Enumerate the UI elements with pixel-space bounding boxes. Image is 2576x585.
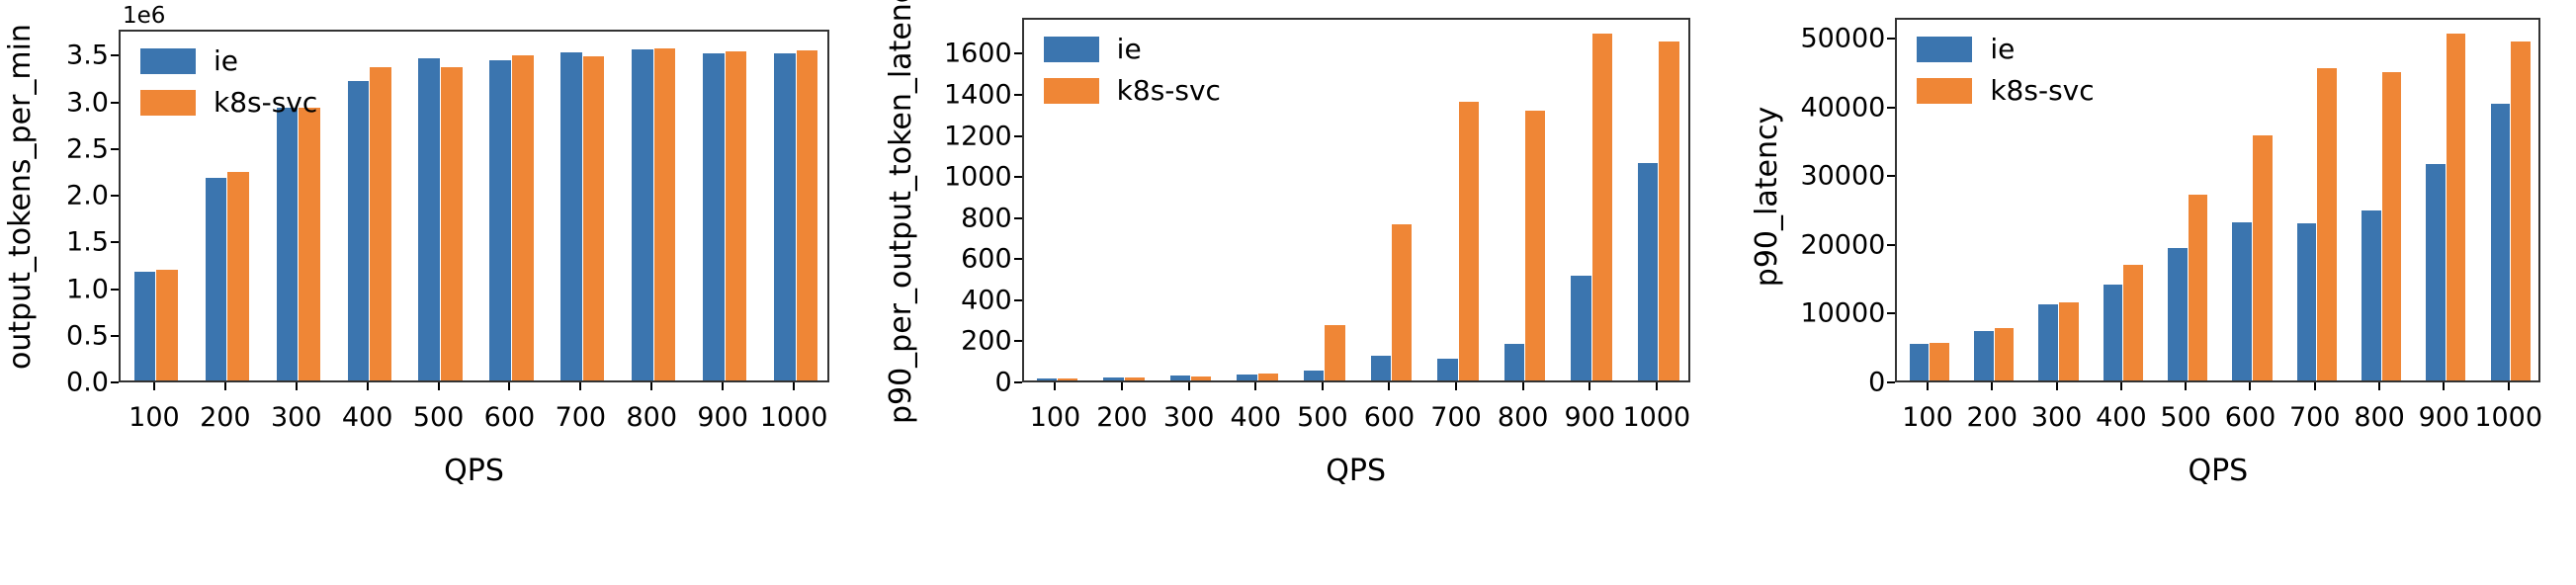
x-tick-mark: [793, 382, 795, 390]
y-tick-mark: [1014, 258, 1022, 260]
legend: iek8s-svc: [140, 47, 317, 117]
bar-k8s-svc: [583, 56, 605, 380]
bar-ie: [774, 53, 796, 380]
bar-group: [547, 32, 618, 380]
y-tick-label: 3.5: [66, 41, 109, 71]
y-axis-offset-text: 1e6: [123, 3, 165, 29]
x-axis-label: QPS: [444, 454, 504, 488]
bar-group: [2478, 20, 2542, 380]
y-tick-mark: [1014, 340, 1022, 342]
y-tick-mark: [1887, 107, 1895, 109]
bar-group: [1424, 20, 1492, 380]
bar-group: [1492, 20, 1559, 380]
y-tick-label: 0.0: [66, 368, 109, 398]
bar-ie: [1437, 359, 1457, 380]
x-tick-label: 500: [2160, 402, 2211, 433]
bar-ie: [1237, 375, 1256, 380]
y-tick-mark: [111, 241, 119, 243]
x-tick-mark: [1254, 382, 1256, 390]
legend-label-k8s-svc: k8s-svc: [1990, 77, 2094, 105]
y-tick-mark: [1887, 38, 1895, 40]
x-tick-label: 600: [484, 402, 536, 433]
x-tick-label: 200: [1096, 402, 1148, 433]
y-tick-mark: [1014, 52, 1022, 54]
x-tick-label: 800: [1498, 402, 1549, 433]
x-tick-label: 100: [1030, 402, 1081, 433]
y-tick-column: 02004006008001000120014001600: [913, 18, 1022, 382]
bar-group: [1291, 20, 1358, 380]
x-tick-label: 1000: [760, 402, 828, 433]
y-tick-column: 0.00.51.01.52.02.53.03.5: [10, 30, 119, 382]
x-tick-label: 700: [556, 402, 607, 433]
x-tick-mark: [1054, 382, 1056, 390]
bar-ie: [1504, 344, 1524, 380]
bar-k8s-svc: [299, 108, 320, 380]
y-tick-label: 800: [961, 203, 1012, 233]
y-tick-label: 600: [961, 244, 1012, 275]
legend-swatch-k8s-svc: [1044, 78, 1099, 104]
bar-k8s-svc: [797, 50, 818, 380]
y-tick-label: 0: [1868, 368, 1885, 398]
bar-group: [2284, 20, 2349, 380]
bar-ie: [134, 272, 156, 381]
x-tick-label: 300: [271, 402, 322, 433]
bar-group: [1558, 20, 1625, 380]
y-tick-mark: [1014, 135, 1022, 137]
bar-group: [2091, 20, 2155, 380]
y-axis-label-text: p90_latency: [1753, 106, 1782, 286]
x-tick-mark: [2056, 382, 2058, 390]
bar-ie: [348, 81, 370, 380]
x-tick-mark: [1589, 382, 1590, 390]
y-tick-label: 1400: [944, 79, 1012, 110]
y-tick-label: 50000: [1800, 23, 1885, 53]
bar-k8s-svc: [1525, 111, 1545, 380]
legend-swatch-ie: [1917, 37, 1972, 62]
x-tick-label: 200: [200, 402, 251, 433]
y-tick-mark: [111, 148, 119, 150]
bar-k8s-svc: [2317, 68, 2337, 380]
bar-k8s-svc: [2123, 265, 2143, 380]
legend-item-ie[interactable]: ie: [140, 47, 317, 75]
legend-swatch-k8s-svc: [1917, 78, 1972, 104]
legend-item-k8s-svc[interactable]: k8s-svc: [1044, 77, 1221, 105]
bar-k8s-svc: [1258, 374, 1278, 380]
x-tick-mark: [296, 382, 298, 390]
y-tick-mark: [1014, 217, 1022, 219]
bar-k8s-svc: [726, 51, 747, 380]
bar-ie: [560, 52, 582, 380]
legend-label-ie: ie: [214, 47, 238, 75]
legend-item-ie[interactable]: ie: [1917, 36, 2094, 63]
bar-ie: [1304, 371, 1324, 380]
bar-ie: [703, 53, 725, 381]
bar-ie: [2104, 285, 2123, 380]
x-tick-mark: [1991, 382, 1993, 390]
chart-panel-1: output_tokens_per_min1e60.00.51.01.52.02…: [0, 0, 859, 585]
y-tick-label: 1.0: [66, 274, 109, 304]
bar-k8s-svc: [1325, 325, 1344, 380]
x-tick-mark: [438, 382, 440, 390]
bar-k8s-svc: [2253, 135, 2273, 380]
y-axis-label-text: p90_per_output_token_latency: [887, 0, 916, 424]
bar-k8s-svc: [1125, 377, 1145, 380]
bar-ie: [2168, 248, 2188, 380]
x-tick-mark: [2443, 382, 2445, 390]
bar-k8s-svc: [227, 172, 249, 380]
y-tick-label: 1200: [944, 121, 1012, 151]
bar-group: [689, 32, 760, 380]
x-tick-mark: [1322, 382, 1324, 390]
legend-item-k8s-svc[interactable]: k8s-svc: [1917, 77, 2094, 105]
legend-label-ie: ie: [1117, 36, 1142, 63]
x-tick-mark: [722, 382, 724, 390]
bar-k8s-svc: [1995, 328, 2015, 380]
y-tick-mark: [1014, 381, 1022, 383]
x-tick-mark: [367, 382, 369, 390]
bar-ie: [1910, 344, 1930, 380]
x-tick-label: 600: [2225, 402, 2276, 433]
bar-ie: [2361, 210, 2381, 380]
x-tick-label: 600: [1364, 402, 1416, 433]
bar-k8s-svc: [512, 55, 534, 380]
y-tick-mark: [1014, 176, 1022, 178]
bar-ie: [1103, 377, 1123, 380]
figure-root: output_tokens_per_min1e60.00.51.01.52.02…: [0, 0, 2576, 585]
y-tick-label: 30000: [1800, 161, 1885, 192]
bar-ie: [1974, 331, 1994, 380]
bar-k8s-svc: [1459, 102, 1479, 380]
x-tick-label: 100: [129, 402, 180, 433]
bar-ie: [277, 108, 299, 380]
x-tick-label: 900: [1564, 402, 1615, 433]
legend: iek8s-svc: [1917, 36, 2094, 105]
x-tick-mark: [153, 382, 155, 390]
y-tick-label: 0: [994, 368, 1011, 398]
y-tick-label: 1600: [944, 39, 1012, 69]
x-tick-mark: [1188, 382, 1190, 390]
x-tick-label: 500: [1297, 402, 1348, 433]
chart-panel-3: p90_latency01000020000300004000050000100…: [1717, 0, 2576, 585]
bar-k8s-svc: [2511, 42, 2531, 380]
bar-k8s-svc: [1058, 378, 1077, 380]
x-tick-mark: [224, 382, 226, 390]
x-tick-mark: [2185, 382, 2187, 390]
bar-ie: [418, 58, 440, 380]
x-tick-label: 400: [342, 402, 393, 433]
bar-group: [618, 32, 689, 380]
y-tick-mark: [111, 335, 119, 337]
y-tick-mark: [1887, 381, 1895, 383]
legend-label-ie: ie: [1990, 36, 2015, 63]
y-tick-mark: [1887, 312, 1895, 314]
bar-group: [405, 32, 476, 380]
bar-group: [1358, 20, 1425, 380]
bar-ie: [2297, 223, 2317, 380]
legend: iek8s-svc: [1044, 36, 1221, 105]
chart-panel-2: p90_per_output_token_latency020040060080…: [859, 0, 1718, 585]
y-tick-label: 400: [961, 285, 1012, 315]
x-axis-label: QPS: [2188, 454, 2248, 488]
x-tick-mark: [1522, 382, 1524, 390]
x-tick-label: 700: [2289, 402, 2341, 433]
y-tick-label: 2.5: [66, 133, 109, 164]
x-tick-mark: [2378, 382, 2380, 390]
bar-k8s-svc: [654, 48, 676, 380]
y-tick-label: 200: [961, 326, 1012, 357]
legend-swatch-ie: [140, 48, 196, 74]
x-tick-label: 200: [1967, 402, 2018, 433]
y-tick-label: 1000: [944, 162, 1012, 193]
y-tick-label: 10000: [1800, 298, 1885, 329]
x-tick-label: 400: [2096, 402, 2147, 433]
y-tick-label: 0.5: [66, 320, 109, 351]
bar-group: [2349, 20, 2413, 380]
x-tick-mark: [2249, 382, 2251, 390]
bar-k8s-svc: [1191, 376, 1211, 380]
x-tick-mark: [1656, 382, 1658, 390]
bar-group: [1224, 20, 1291, 380]
bar-ie: [1571, 276, 1590, 380]
x-tick-label: 1000: [2474, 402, 2542, 433]
y-tick-mark: [111, 289, 119, 291]
x-tick-mark: [1121, 382, 1123, 390]
x-tick-mark: [650, 382, 652, 390]
bar-group: [476, 32, 548, 380]
y-tick-mark: [111, 54, 119, 56]
bar-k8s-svc: [370, 67, 391, 380]
bar-k8s-svc: [1930, 343, 1949, 380]
x-tick-label: 900: [2419, 402, 2470, 433]
x-tick-label: 1000: [1623, 402, 1691, 433]
bar-k8s-svc: [2059, 302, 2079, 380]
x-tick-label: 800: [626, 402, 677, 433]
bar-ie: [1170, 376, 1190, 380]
x-tick-mark: [2120, 382, 2122, 390]
x-tick-label: 300: [1163, 402, 1215, 433]
bar-k8s-svc: [156, 270, 178, 380]
legend-swatch-ie: [1044, 37, 1099, 62]
y-tick-label: 1.5: [66, 227, 109, 258]
bar-k8s-svc: [1592, 34, 1612, 380]
bar-group: [2414, 20, 2478, 380]
x-tick-label: 900: [697, 402, 748, 433]
y-tick-mark: [111, 102, 119, 104]
bar-ie: [489, 60, 511, 380]
bar-k8s-svc: [1392, 224, 1412, 380]
y-tick-mark: [1014, 299, 1022, 301]
y-tick-label: 2.0: [66, 181, 109, 211]
bar-ie: [632, 49, 653, 380]
bar-ie: [2426, 164, 2446, 380]
y-tick-mark: [1887, 175, 1895, 177]
y-tick-label: 3.0: [66, 87, 109, 118]
x-tick-label: 800: [2354, 402, 2405, 433]
x-tick-mark: [1455, 382, 1457, 390]
bar-ie: [206, 178, 227, 380]
y-tick-column: 01000020000300004000050000: [1786, 18, 1895, 382]
bar-k8s-svc: [2382, 72, 2402, 380]
x-tick-label: 100: [1902, 402, 1953, 433]
bar-ie: [2038, 304, 2058, 380]
y-tick-mark: [111, 381, 119, 383]
x-axis-label: QPS: [1326, 454, 1386, 488]
bar-group: [334, 32, 405, 380]
bar-ie: [2491, 104, 2511, 380]
y-tick-mark: [1887, 244, 1895, 246]
legend-swatch-k8s-svc: [140, 90, 196, 116]
bar-group: [760, 32, 831, 380]
legend-label-k8s-svc: k8s-svc: [214, 89, 317, 117]
x-tick-label: 700: [1430, 402, 1482, 433]
y-tick-mark: [111, 195, 119, 197]
y-tick-label: 20000: [1800, 229, 1885, 260]
legend-label-k8s-svc: k8s-svc: [1117, 77, 1221, 105]
legend-item-k8s-svc[interactable]: k8s-svc: [140, 89, 317, 117]
x-tick-mark: [579, 382, 581, 390]
bar-k8s-svc: [441, 67, 463, 380]
x-tick-mark: [2508, 382, 2510, 390]
x-tick-label: 300: [2031, 402, 2083, 433]
x-tick-mark: [1388, 382, 1390, 390]
y-tick-label: 40000: [1800, 92, 1885, 123]
x-tick-mark: [508, 382, 510, 390]
x-tick-label: 400: [1230, 402, 1281, 433]
bar-ie: [1037, 378, 1057, 380]
bar-group: [1625, 20, 1692, 380]
bar-k8s-svc: [2447, 34, 2466, 380]
y-tick-mark: [1014, 94, 1022, 96]
bar-group: [2156, 20, 2220, 380]
x-tick-label: 500: [413, 402, 465, 433]
bar-group: [2220, 20, 2284, 380]
x-tick-mark: [1927, 382, 1929, 390]
bar-ie: [2232, 222, 2252, 380]
legend-item-ie[interactable]: ie: [1044, 36, 1221, 63]
bar-k8s-svc: [1659, 42, 1678, 380]
bar-ie: [1638, 163, 1658, 380]
x-tick-mark: [2314, 382, 2316, 390]
bar-k8s-svc: [2189, 195, 2208, 380]
bar-ie: [1371, 356, 1391, 380]
